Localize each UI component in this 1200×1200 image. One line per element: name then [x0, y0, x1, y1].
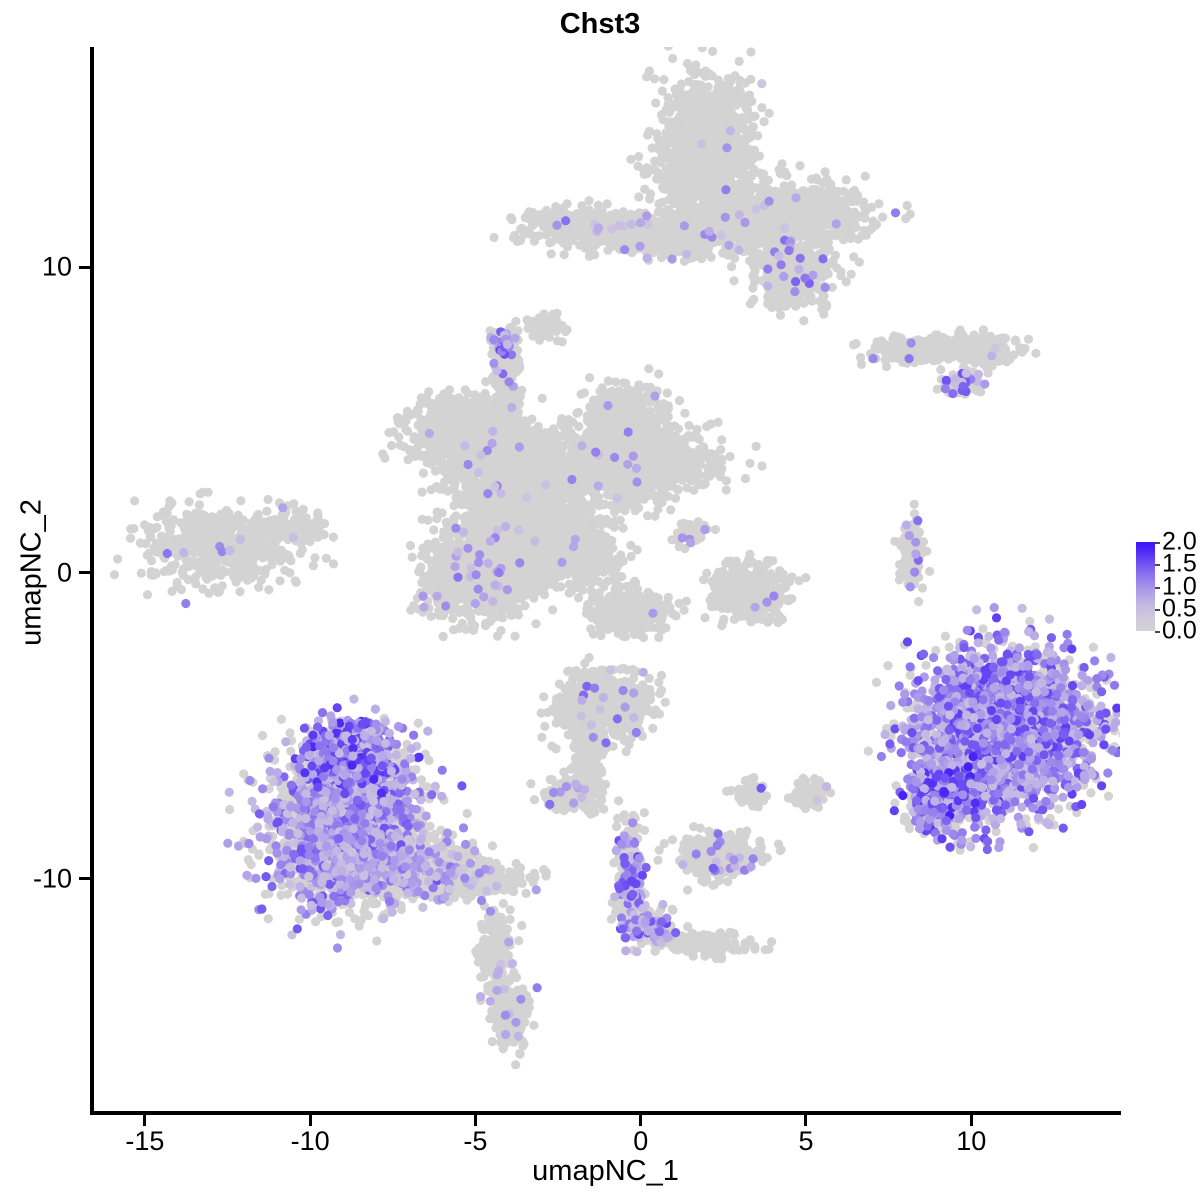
- scatter-point: [110, 570, 119, 579]
- scatter-point: [113, 554, 122, 563]
- scatter-point: [243, 576, 252, 585]
- scatter-point: [214, 527, 223, 536]
- scatter-point: [145, 549, 154, 558]
- scatter-point: [548, 605, 557, 614]
- scatter-point: [300, 513, 309, 522]
- scatter-point: [178, 539, 187, 548]
- scatter-point: [177, 585, 186, 594]
- scatter-point: [512, 973, 521, 982]
- scatter-point: [209, 564, 218, 573]
- scatter-point: [455, 490, 464, 499]
- scatter-point: [538, 394, 547, 403]
- scatter-point: [513, 868, 522, 877]
- scatter-point: [301, 530, 310, 539]
- scatter-point: [185, 497, 194, 506]
- scatter-point: [285, 728, 294, 737]
- scatter-point: [145, 523, 154, 532]
- scatter-point: [236, 545, 245, 554]
- scatter-point: [268, 522, 277, 531]
- scatter-point: [329, 533, 338, 542]
- scatter-point: [226, 526, 235, 535]
- scatter-point: [261, 890, 270, 899]
- scatter-point: [164, 538, 173, 547]
- scatter-point: [473, 504, 482, 513]
- scatter-point: [167, 587, 176, 596]
- scatter-point: [195, 500, 204, 509]
- scatter-point: [479, 856, 488, 865]
- scatter-point: [126, 534, 135, 543]
- scatter-point: [320, 530, 329, 539]
- scatter-point: [277, 715, 286, 724]
- scatter-point: [489, 932, 498, 941]
- scatter-point: [217, 565, 226, 574]
- scatter-point: [418, 515, 427, 524]
- scatter-point: [507, 886, 516, 895]
- scatter-point: [278, 514, 287, 523]
- scatter-point: [165, 566, 174, 575]
- scatter-point: [184, 575, 193, 584]
- scatter-point: [467, 892, 476, 901]
- scatter-point: [471, 947, 480, 956]
- scatter-point: [418, 488, 427, 497]
- scatter-point: [292, 578, 301, 587]
- scatter-point: [518, 1041, 527, 1050]
- scatter-point: [247, 860, 256, 869]
- scatter-point: [364, 911, 373, 920]
- scatter-point: [496, 865, 505, 874]
- scatter-point: [254, 849, 263, 858]
- scatter-point: [331, 918, 340, 927]
- scatter-point: [277, 891, 286, 900]
- scatter-point: [254, 583, 263, 592]
- scatter-point: [216, 510, 225, 519]
- scatter-point: [500, 976, 509, 985]
- scatter-point: [514, 936, 523, 945]
- scatter-point: [313, 508, 322, 517]
- scatter-point: [236, 496, 245, 505]
- scatter-point: [488, 916, 497, 925]
- umap-feature-plot: Chst3 -15-10-50510 100-10 umapNC_1 umapN…: [0, 0, 1200, 1200]
- scatter-point: [147, 567, 156, 576]
- scatter-point: [201, 527, 210, 536]
- scatter-point: [258, 731, 267, 740]
- scatter-point: [252, 517, 261, 526]
- scatter-point: [457, 500, 466, 509]
- scatter-point: [535, 505, 544, 514]
- scatter-point: [241, 556, 250, 565]
- scatter-point: [264, 914, 273, 923]
- scatter-point: [329, 559, 338, 568]
- scatter-point: [488, 841, 497, 850]
- scatter-point: [574, 422, 583, 431]
- scatter-point: [164, 523, 173, 532]
- scatter-point: [544, 499, 553, 508]
- scatter-point: [322, 554, 331, 563]
- scatter-point: [190, 541, 199, 550]
- scatter-point: [154, 539, 163, 548]
- unexpressed-points-layer: [110, 47, 1120, 1069]
- scatter-point: [495, 1019, 504, 1028]
- scatter-point: [478, 972, 487, 981]
- scatter-point: [188, 560, 197, 569]
- scatter-point: [541, 871, 550, 880]
- scatter-point: [477, 479, 486, 488]
- scatter-point: [262, 507, 271, 516]
- scatter-point: [264, 585, 273, 594]
- page-title: Chst3: [0, 8, 1200, 41]
- scatter-point: [225, 805, 234, 814]
- scatter-point: [528, 512, 537, 521]
- scatter-point: [188, 520, 197, 529]
- scatter-point: [521, 501, 530, 510]
- scatter-point: [241, 566, 250, 575]
- scatter-point: [506, 905, 515, 914]
- scatter-point: [479, 936, 488, 945]
- scatter-point: [257, 525, 266, 534]
- scatter-point: [232, 573, 241, 582]
- scatter-point: [246, 524, 255, 533]
- scatter-point: [462, 490, 471, 499]
- scatter-point: [430, 830, 439, 839]
- scatter-point: [309, 561, 318, 570]
- scatter-point: [459, 890, 468, 899]
- scatter-point: [310, 553, 319, 562]
- scatter-point: [515, 1050, 524, 1059]
- scatter-point: [247, 547, 256, 556]
- scatter-point: [529, 1021, 538, 1030]
- scatter-point: [208, 535, 217, 544]
- scatter-point: [130, 496, 139, 505]
- scatter-point: [508, 878, 517, 887]
- scatter-point: [285, 568, 294, 577]
- scatter-point: [479, 877, 488, 886]
- scatter-point: [284, 551, 293, 560]
- scatter-point: [137, 569, 146, 578]
- scatter-point: [198, 488, 207, 497]
- scatter-point: [522, 889, 531, 898]
- scatter-point: [355, 921, 364, 930]
- scatter-point: [463, 809, 472, 818]
- scatter-point: [153, 512, 162, 521]
- scatter-point: [275, 576, 284, 585]
- scatter-point: [167, 498, 176, 507]
- scatter-point: [488, 1037, 497, 1046]
- scatter-point: [311, 917, 320, 926]
- scatter-point: [307, 519, 316, 528]
- scatter-point: [587, 507, 596, 516]
- scatter-point: [478, 955, 487, 964]
- scatter-point: [414, 719, 423, 728]
- scatter-point: [233, 564, 242, 573]
- scatter-plot-canvas: [92, 47, 1120, 1111]
- scatter-point: [517, 921, 526, 930]
- scatter-point: [481, 922, 490, 931]
- scatter-point: [126, 524, 135, 533]
- scatter-point: [291, 507, 300, 516]
- scatter-point: [530, 873, 539, 882]
- scatter-point: [205, 518, 214, 527]
- scatter-point: [484, 503, 493, 512]
- scatter-point: [143, 590, 152, 599]
- scatter-point: [213, 588, 222, 597]
- scatter-point: [500, 924, 509, 933]
- scatter-point: [372, 936, 381, 945]
- scatter-point: [260, 570, 269, 579]
- scatter-point: [195, 568, 204, 577]
- scatter-point: [298, 545, 307, 554]
- scatter-point: [235, 587, 244, 596]
- scatter-point: [505, 867, 514, 876]
- scatter-point: [511, 1060, 520, 1069]
- scatter-point: [518, 879, 527, 888]
- scatter-point: [237, 524, 246, 533]
- scatter-point: [489, 948, 498, 957]
- scatter-point: [264, 495, 273, 504]
- scatter-point: [499, 899, 508, 908]
- scatter-point: [290, 520, 299, 529]
- scatter-point: [146, 533, 155, 542]
